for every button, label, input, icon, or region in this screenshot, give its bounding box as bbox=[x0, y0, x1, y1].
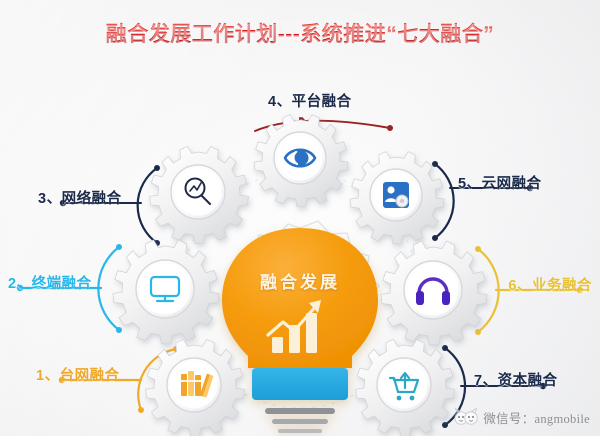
gear-node-3[interactable] bbox=[150, 146, 249, 243]
watermark: 微信号：angmobile bbox=[453, 406, 590, 428]
node-label-3[interactable]: 3、网络融合 bbox=[38, 187, 122, 208]
center-label: 融合发展 bbox=[0, 268, 600, 293]
node-label-5[interactable]: 5、云网融合 bbox=[458, 172, 542, 193]
page-title: 融合发展工作计划---系统推进“七大融合” bbox=[0, 22, 600, 47]
node-label-4[interactable]: 4、平台融合 bbox=[268, 90, 352, 111]
gear-node-1[interactable] bbox=[146, 339, 245, 436]
infographic-canvas: 融合发展工作计划---系统推进“七大融合” bbox=[0, 0, 600, 436]
watermark-text: 微信号：angmobile bbox=[483, 408, 590, 427]
gear-node-4[interactable] bbox=[254, 115, 348, 207]
gear-node-7[interactable] bbox=[356, 339, 455, 436]
node-label-7[interactable]: 7、资本融合 bbox=[474, 369, 558, 390]
node-label-1[interactable]: 1、台网融合 bbox=[36, 364, 120, 385]
user-gear-badge-icon bbox=[383, 182, 409, 208]
cat-face-logo bbox=[453, 406, 479, 428]
gear-node-5[interactable] bbox=[350, 152, 444, 244]
